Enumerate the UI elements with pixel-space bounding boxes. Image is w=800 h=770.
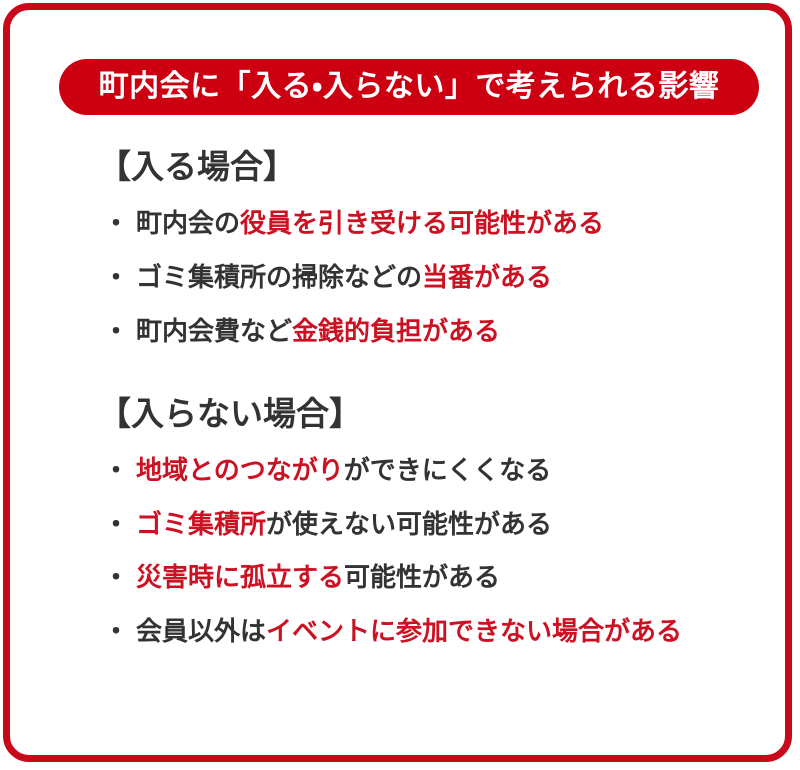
list-item: ・災害時に孤立する可能性がある (103, 551, 800, 605)
bullet-dot-icon: ・ (103, 617, 129, 647)
text-segment-normal: 可能性がある (344, 562, 500, 592)
text-segment-highlight: 災害時に孤立する (136, 562, 344, 592)
section-heading: 【入る場合】 (98, 150, 800, 183)
text-segment-highlight: 当番がある (422, 262, 552, 292)
text-segment-highlight: 金銭的負担がある (292, 316, 500, 346)
list-item-text: ゴミ集積所が使えない可能性がある (136, 510, 552, 540)
list-item: ・ゴミ集積所の掃除などの当番がある (103, 251, 800, 305)
list-item-text: 災害時に孤立する可能性がある (136, 563, 500, 593)
bullet-dot-icon: ・ (103, 209, 129, 239)
title-banner: 町内会に「入る・入らない」で考えられる影響 (59, 59, 759, 115)
text-segment-normal: ゴミ集積所の掃除などの (136, 262, 422, 292)
list-item: ・地域とのつながりができにくくなる (103, 444, 800, 498)
section-heading: 【入らない場合】 (98, 397, 800, 430)
list-item-text: 地域とのつながりができにくくなる (136, 456, 551, 486)
page-title: 町内会に「入る・入らない」で考えられる影響 (99, 72, 720, 102)
text-segment-normal: 会員以外は (136, 616, 266, 646)
list-item: ・町内会費など金銭的負担がある (103, 305, 800, 359)
text-segment-highlight: イベントに参加できない場合がある (266, 616, 682, 646)
bullet-dot-icon: ・ (103, 317, 129, 347)
bullet-dot-icon: ・ (103, 563, 129, 593)
list-item: ・会員以外はイベントに参加できない場合がある (103, 605, 800, 659)
text-segment-normal: が使えない可能性がある (266, 509, 552, 539)
text-segment-highlight: 役員を引き受ける可能性がある (240, 208, 604, 238)
bullet-list: ・町内会の役員を引き受ける可能性がある・ゴミ集積所の掃除などの当番がある・町内会… (10, 197, 800, 359)
bullet-dot-icon: ・ (103, 510, 129, 540)
info-card: 町内会に「入る・入らない」で考えられる影響 【入る場合】・町内会の役員を引き受け… (3, 3, 792, 762)
list-item: ・町内会の役員を引き受ける可能性がある (103, 197, 800, 251)
list-item-text: ゴミ集積所の掃除などの当番がある (136, 263, 552, 293)
section-0: 【入る場合】・町内会の役員を引き受ける可能性がある・ゴミ集積所の掃除などの当番が… (10, 150, 800, 359)
bullet-dot-icon: ・ (103, 456, 129, 486)
section-1: 【入らない場合】・地域とのつながりができにくくなる・ゴミ集積所が使えない可能性が… (10, 397, 800, 660)
content-area: 【入る場合】・町内会の役員を引き受ける可能性がある・ゴミ集積所の掃除などの当番が… (10, 150, 800, 659)
list-item-text: 町内会費など金銭的負担がある (136, 317, 500, 347)
text-segment-highlight: 地域とのつながり (136, 455, 344, 485)
text-segment-normal: 町内会費など (136, 316, 292, 346)
list-item-text: 会員以外はイベントに参加できない場合がある (136, 617, 682, 647)
list-item-text: 町内会の役員を引き受ける可能性がある (136, 209, 604, 239)
text-segment-normal: ができにくくなる (344, 455, 551, 485)
bullet-list: ・地域とのつながりができにくくなる・ゴミ集積所が使えない可能性がある・災害時に孤… (10, 444, 800, 660)
sections-root: 【入る場合】・町内会の役員を引き受ける可能性がある・ゴミ集積所の掃除などの当番が… (10, 150, 800, 659)
text-segment-highlight: ゴミ集積所 (136, 509, 266, 539)
bullet-dot-icon: ・ (103, 263, 129, 293)
list-item: ・ゴミ集積所が使えない可能性がある (103, 498, 800, 552)
text-segment-normal: 町内会の (136, 208, 240, 238)
